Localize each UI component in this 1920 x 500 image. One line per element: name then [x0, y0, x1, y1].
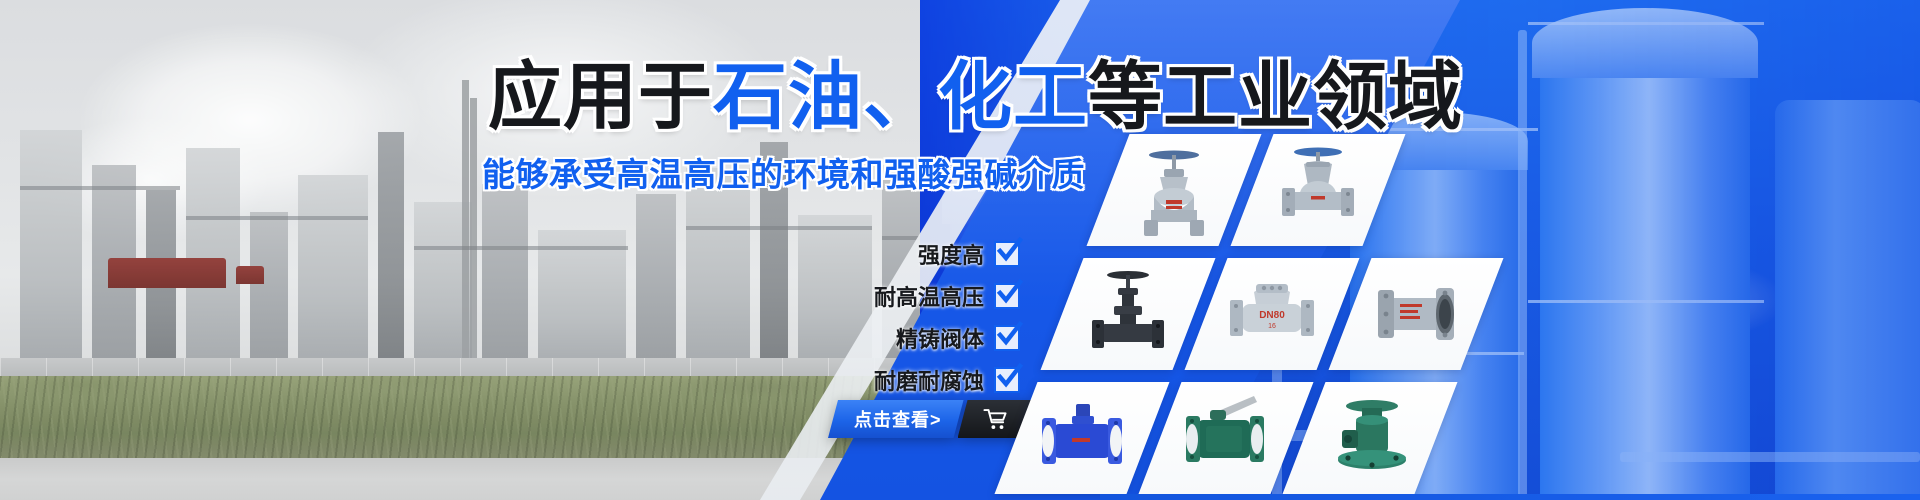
industrial-valve-hero-banner: 应用于石油、化工等工业领域 能够承受高温高压的环境和强酸强碱介质 强度高 耐高温… [0, 0, 1920, 500]
feature-label: 耐高温高压 [874, 280, 984, 312]
ball-valve-lever-green-icon [1172, 390, 1280, 486]
flanged-check-valve-icon [1362, 266, 1470, 362]
flanged-valve-green-icon [1316, 390, 1424, 486]
feature-label: 强度高 [918, 238, 984, 270]
list-item: 耐磨耐腐蚀 [874, 364, 1020, 396]
product-cell[interactable] [1329, 258, 1504, 370]
product-cell[interactable] [995, 382, 1170, 494]
svg-text:16: 16 [1268, 323, 1276, 330]
list-item: 耐高温高压 [874, 280, 1020, 312]
feature-label: 耐磨耐腐蚀 [874, 364, 984, 396]
view-more-button[interactable]: 点击查看> [828, 400, 964, 438]
swing-check-valve-icon: DN80 16 [1218, 266, 1326, 362]
headline-prefix: 应用于 [488, 55, 713, 138]
forged-gate-valve-black-icon [1074, 266, 1182, 362]
product-cell[interactable] [1283, 382, 1458, 494]
product-cell[interactable]: DN80 16 [1185, 258, 1360, 370]
feature-label: 精铸阀体 [896, 322, 984, 354]
gate-valve-cast-steel-icon [1120, 142, 1228, 238]
product-cell[interactable] [1139, 382, 1314, 494]
product-cell[interactable] [1231, 134, 1406, 246]
globe-valve-flanged-icon [1264, 142, 1372, 238]
product-cell[interactable] [1041, 258, 1216, 370]
bottom-blue-band [1100, 494, 1920, 500]
page-subtitle: 能够承受高温高压的环境和强酸强碱介质 [482, 148, 1085, 196]
lined-ball-valve-blue-icon [1028, 390, 1136, 486]
product-thumbnail-grid: DN80 16 [1000, 0, 1560, 500]
svg-text:DN80: DN80 [1259, 310, 1285, 321]
feature-checklist: 强度高 耐高温高压 精铸阀体 耐磨耐腐蚀 [690, 238, 1020, 396]
product-cell[interactable] [1087, 134, 1262, 246]
